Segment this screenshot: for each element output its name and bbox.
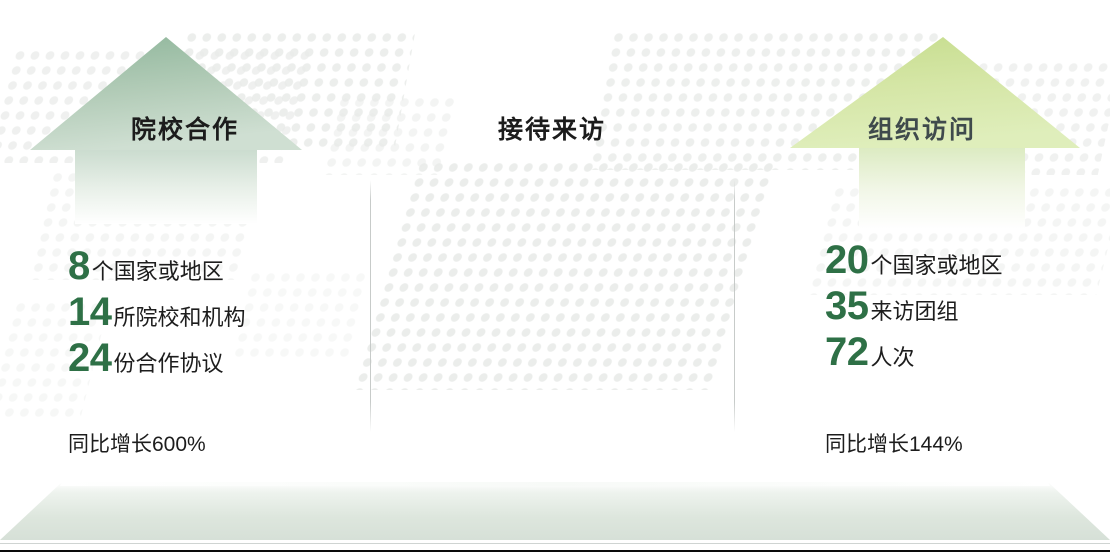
stat-unit: 份合作协议 [114,353,224,375]
stat-column-organized-visits: 组织访问 12 个团组 30 人次 同比增长200% [734,0,1110,552]
stat-row: 8 个国家或地区 [68,246,246,286]
column-title-3: 组织访问 [734,110,1110,146]
growth-footnote-1: 同比增长600% [68,434,206,455]
base-platform [0,476,1110,552]
column-title-2: 接待来访 [370,110,734,146]
stat-unit: 所院校和机构 [114,307,246,329]
infographic-canvas: 院校合作 8 个国家或地区 14 所院校和机构 24 份合作协议 同比增长600… [0,0,1110,552]
stat-column-school-cooperation: 院校合作 8 个国家或地区 14 所院校和机构 24 份合作协议 同比增长600… [0,0,370,552]
stat-list-1: 8 个国家或地区 14 所院校和机构 24 份合作协议 [68,246,246,384]
stat-column-receiving-visits: 接待来访 20 个国家或地区 35 来访团组 72 人次 同比增长144% [370,0,734,552]
column-title-1: 院校合作 [0,110,370,146]
stat-row: 14 所院校和机构 [68,292,246,332]
stat-value: 24 [68,338,112,378]
stat-unit: 个国家或地区 [92,261,224,283]
footer-hairline [0,543,1110,544]
stat-value: 14 [68,292,112,332]
stat-row: 24 份合作协议 [68,338,246,378]
stat-value: 8 [68,246,90,286]
